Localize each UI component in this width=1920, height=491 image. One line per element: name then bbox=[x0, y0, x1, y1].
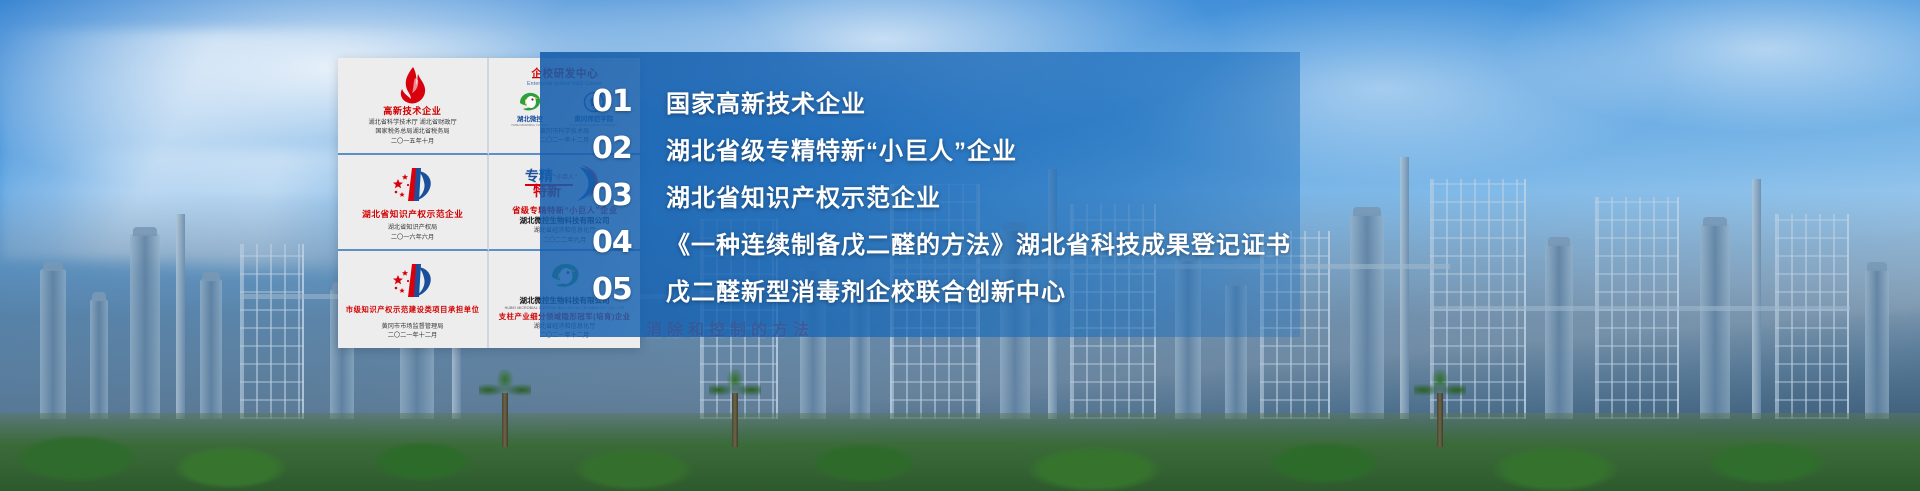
highlights-list: 01 国家高新技术企业 02 湖北省级专精特新“小巨人”企业 03 湖北省知识产… bbox=[592, 78, 1832, 313]
certificate-meta-line: 国家税务总局湖北省税务局 bbox=[368, 127, 456, 137]
list-item-number: 02 bbox=[592, 131, 666, 166]
list-item-label: 湖北省级专精特新“小巨人”企业 bbox=[666, 131, 1017, 166]
list-item-number: 01 bbox=[592, 84, 666, 119]
certificate-meta-line: 二〇一五年十月 bbox=[368, 137, 456, 147]
list-item[interactable]: 03 湖北省知识产权示范企业 bbox=[592, 172, 1832, 219]
certificate-title: 市级知识产权示范建设类项目承担单位 bbox=[346, 306, 480, 315]
list-item[interactable]: 05 戊二醛新型消毒剂企校联合创新中心 bbox=[592, 266, 1832, 313]
list-item-label: 《一种连续制备戊二醛的方法》湖北省科技成果登记证书 bbox=[666, 225, 1291, 260]
list-item-number: 04 bbox=[592, 225, 666, 260]
certificate-card-hubei-ip-demo-enterprise[interactable]: 湖北省知识产权示范企业 湖北省知识产权局 二〇一六年六月 bbox=[338, 155, 489, 252]
list-item-number: 03 bbox=[592, 178, 666, 213]
star-p-ip-icon bbox=[388, 163, 438, 207]
list-item-number: 05 bbox=[592, 272, 666, 307]
list-item-label: 湖北省知识产权示范企业 bbox=[666, 178, 941, 213]
star-p-ip-icon bbox=[388, 259, 438, 303]
certificate-meta: 湖北省科学技术厅 湖北省财政厅 国家税务总局湖北省税务局 二〇一五年十月 bbox=[368, 118, 456, 150]
certificate-card-municipal-ip-demo-project[interactable]: 市级知识产权示范建设类项目承担单位 黄冈市市场监督管理局 二〇二一年十二月 bbox=[338, 251, 489, 348]
certificate-meta: 湖北省知识产权局 二〇一六年六月 bbox=[388, 223, 438, 245]
certificate-meta-line: 二〇二一年十二月 bbox=[382, 331, 444, 341]
certificate-title: 湖北省知识产权示范企业 bbox=[362, 209, 463, 220]
certificate-meta-line: 二〇一六年六月 bbox=[388, 233, 438, 243]
list-item[interactable]: 01 国家高新技术企业 bbox=[592, 78, 1832, 125]
certificate-meta-line: 湖北省科学技术厅 湖北省财政厅 bbox=[368, 118, 456, 128]
certificate-meta: 黄冈市市场监督管理局 二〇二一年十二月 bbox=[382, 322, 444, 344]
list-item-label: 戊二醛新型消毒剂企校联合创新中心 bbox=[666, 272, 1066, 307]
list-item[interactable]: 04 《一种连续制备戊二醛的方法》湖北省科技成果登记证书 bbox=[592, 219, 1832, 266]
certificate-meta-line: 湖北省知识产权局 bbox=[388, 223, 438, 233]
banner-stage: 全都可以找到消除和控制的方法 高新技术企业 湖北省科学技术厅 湖北省财政厅 国家… bbox=[0, 0, 1920, 491]
red-flame-icon bbox=[396, 66, 430, 104]
certificate-title: 高新技术企业 bbox=[383, 106, 441, 117]
certificate-meta-line: 黄冈市市场监督管理局 bbox=[382, 322, 444, 332]
certificate-card-high-tech-enterprise[interactable]: 高新技术企业 湖北省科学技术厅 湖北省财政厅 国家税务总局湖北省税务局 二〇一五… bbox=[338, 58, 489, 155]
list-item-label: 国家高新技术企业 bbox=[666, 84, 866, 119]
list-item[interactable]: 02 湖北省级专精特新“小巨人”企业 bbox=[592, 125, 1832, 172]
greenbelt-foreground bbox=[0, 413, 1920, 491]
